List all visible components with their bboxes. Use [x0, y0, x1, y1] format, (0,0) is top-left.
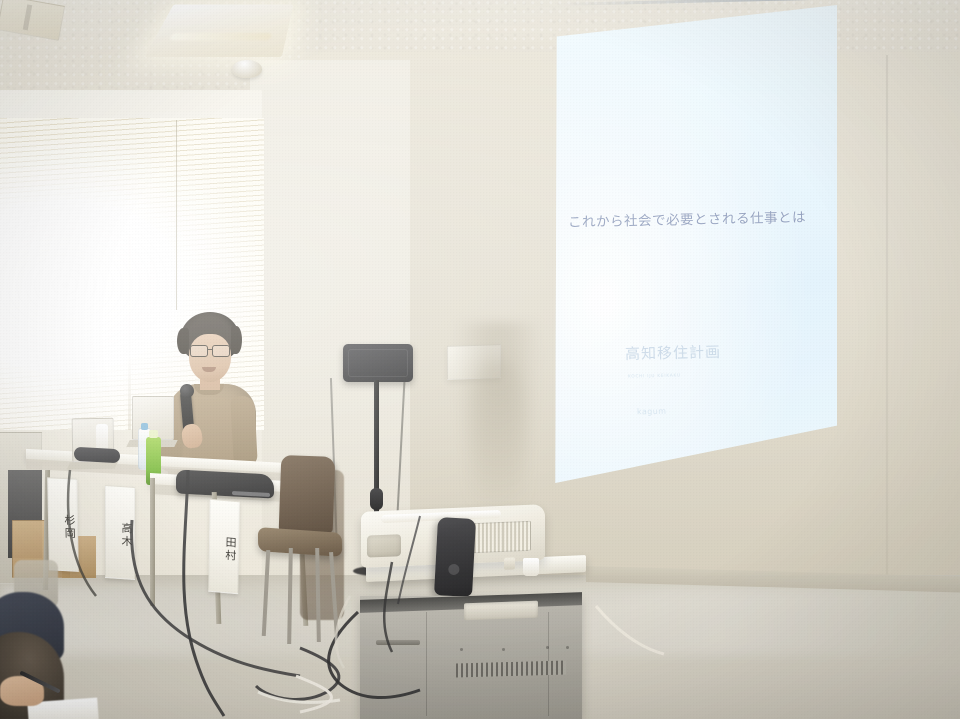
chair-leg — [262, 550, 270, 636]
cart-screw — [566, 646, 569, 649]
presenter-shadow-body — [470, 360, 526, 510]
chair-leg — [315, 548, 321, 642]
speaker-height-knob — [370, 488, 383, 510]
cart-screw — [546, 646, 549, 649]
chair-leg — [329, 552, 339, 636]
cart-tray — [464, 601, 538, 621]
smoke-detector-icon — [232, 60, 262, 78]
name-placard: 高木 — [105, 485, 135, 580]
projector-vent — [473, 521, 531, 553]
small-dark-bag — [74, 447, 120, 463]
slide-logo: kagum — [637, 406, 667, 416]
slide-content: これから社会で必要とされる仕事とは 高知移住計画 KOCHI IJU KEIKA… — [551, 5, 837, 483]
name-placard: 杉岡 — [47, 477, 79, 572]
photo-scene: これから社会で必要とされる仕事とは 高知移住計画 KOCHI IJU KEIKA… — [0, 0, 960, 719]
cart-door — [368, 612, 427, 716]
paper-cup — [523, 558, 539, 576]
slide-title: これから社会で必要とされる仕事とは — [568, 205, 826, 230]
blind-cord — [176, 120, 177, 310]
slide-subtitle-roman: KOCHI IJU KEIKAKU — [628, 372, 681, 378]
cart-vent — [456, 661, 566, 678]
chair-leg — [287, 548, 293, 644]
laptop-base — [67, 462, 118, 470]
cart-screw — [460, 648, 463, 651]
cart-screw — [502, 648, 505, 651]
desk-leg — [150, 478, 155, 606]
presenter-right-arm — [230, 395, 258, 466]
name-placard: 田村 — [208, 499, 240, 594]
chair — [258, 456, 344, 646]
black-case — [434, 517, 476, 597]
light-tube — [169, 33, 271, 40]
glasses-icon — [189, 345, 231, 355]
projection-screen: これから社会で必要とされる仕事とは 高知移住計画 KOCHI IJU KEIKA… — [551, 5, 837, 483]
speaker-box — [343, 344, 413, 382]
cart-handle — [376, 640, 420, 645]
slide-subtitle: 高知移住計画 — [625, 341, 721, 364]
presenter-face — [189, 334, 231, 382]
av-cart — [360, 596, 582, 719]
chair-backrest — [279, 455, 336, 533]
projector-foot — [504, 557, 515, 569]
projector-lens — [367, 534, 401, 557]
